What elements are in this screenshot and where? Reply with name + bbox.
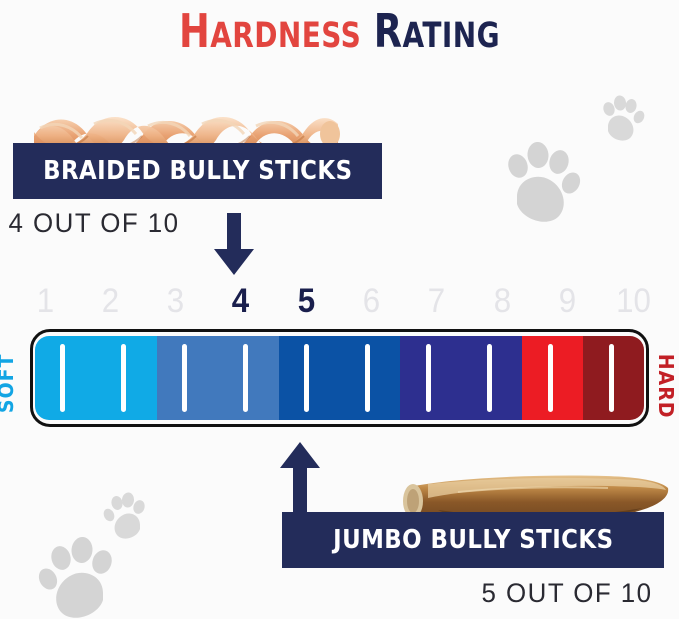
scale-number-8: 8	[473, 281, 533, 321]
banner-jumbo-label: JUMBO BULLY STICKS	[333, 525, 613, 555]
scale-number-3: 3	[146, 281, 206, 321]
scale-label-hard: HARD	[654, 354, 678, 419]
paw-print-top-right-large	[505, 140, 585, 228]
scale-number-2: 2	[81, 281, 141, 321]
scale-number-10: 10	[604, 281, 664, 321]
arrow-up-icon	[278, 440, 322, 523]
page-title: HARDNESS RATING	[68, 4, 611, 58]
scale-number-4: 4	[211, 281, 271, 321]
title-part-hardness: HARDNESS	[179, 7, 361, 58]
hardness-scale-bar	[30, 329, 649, 427]
scale-number-6: 6	[342, 281, 402, 321]
paw-print-bottom-left-large	[34, 535, 116, 619]
hardness-rating-infographic: HARDNESS RATING	[0, 0, 679, 619]
paw-print-top-right-small	[600, 95, 646, 145]
rating-jumbo-text: 5 OUT OF 10	[482, 578, 653, 609]
scale-number-9: 9	[538, 281, 598, 321]
title-spacer	[361, 7, 374, 58]
scale-number-7: 7	[407, 281, 467, 321]
scale-numbers: 1 2 3 4 5 6 7 8 9 10	[13, 281, 666, 321]
banner-jumbo-bully-sticks: JUMBO BULLY STICKS	[282, 512, 664, 568]
scale-label-soft: SOFT	[0, 354, 18, 414]
scale-number-5: 5	[277, 281, 337, 321]
scale-bar-outline	[30, 329, 649, 427]
banner-braided-bully-sticks: BRAIDED BULLY STICKS	[13, 143, 382, 199]
paw-print-bottom-left-small	[100, 492, 148, 544]
scale-number-1: 1	[16, 281, 76, 321]
title-part-rating: RATING	[374, 7, 500, 58]
arrow-down-icon	[212, 213, 256, 282]
rating-braided-text: 4 OUT OF 10	[9, 208, 180, 239]
banner-braided-label: BRAIDED BULLY STICKS	[43, 156, 352, 186]
